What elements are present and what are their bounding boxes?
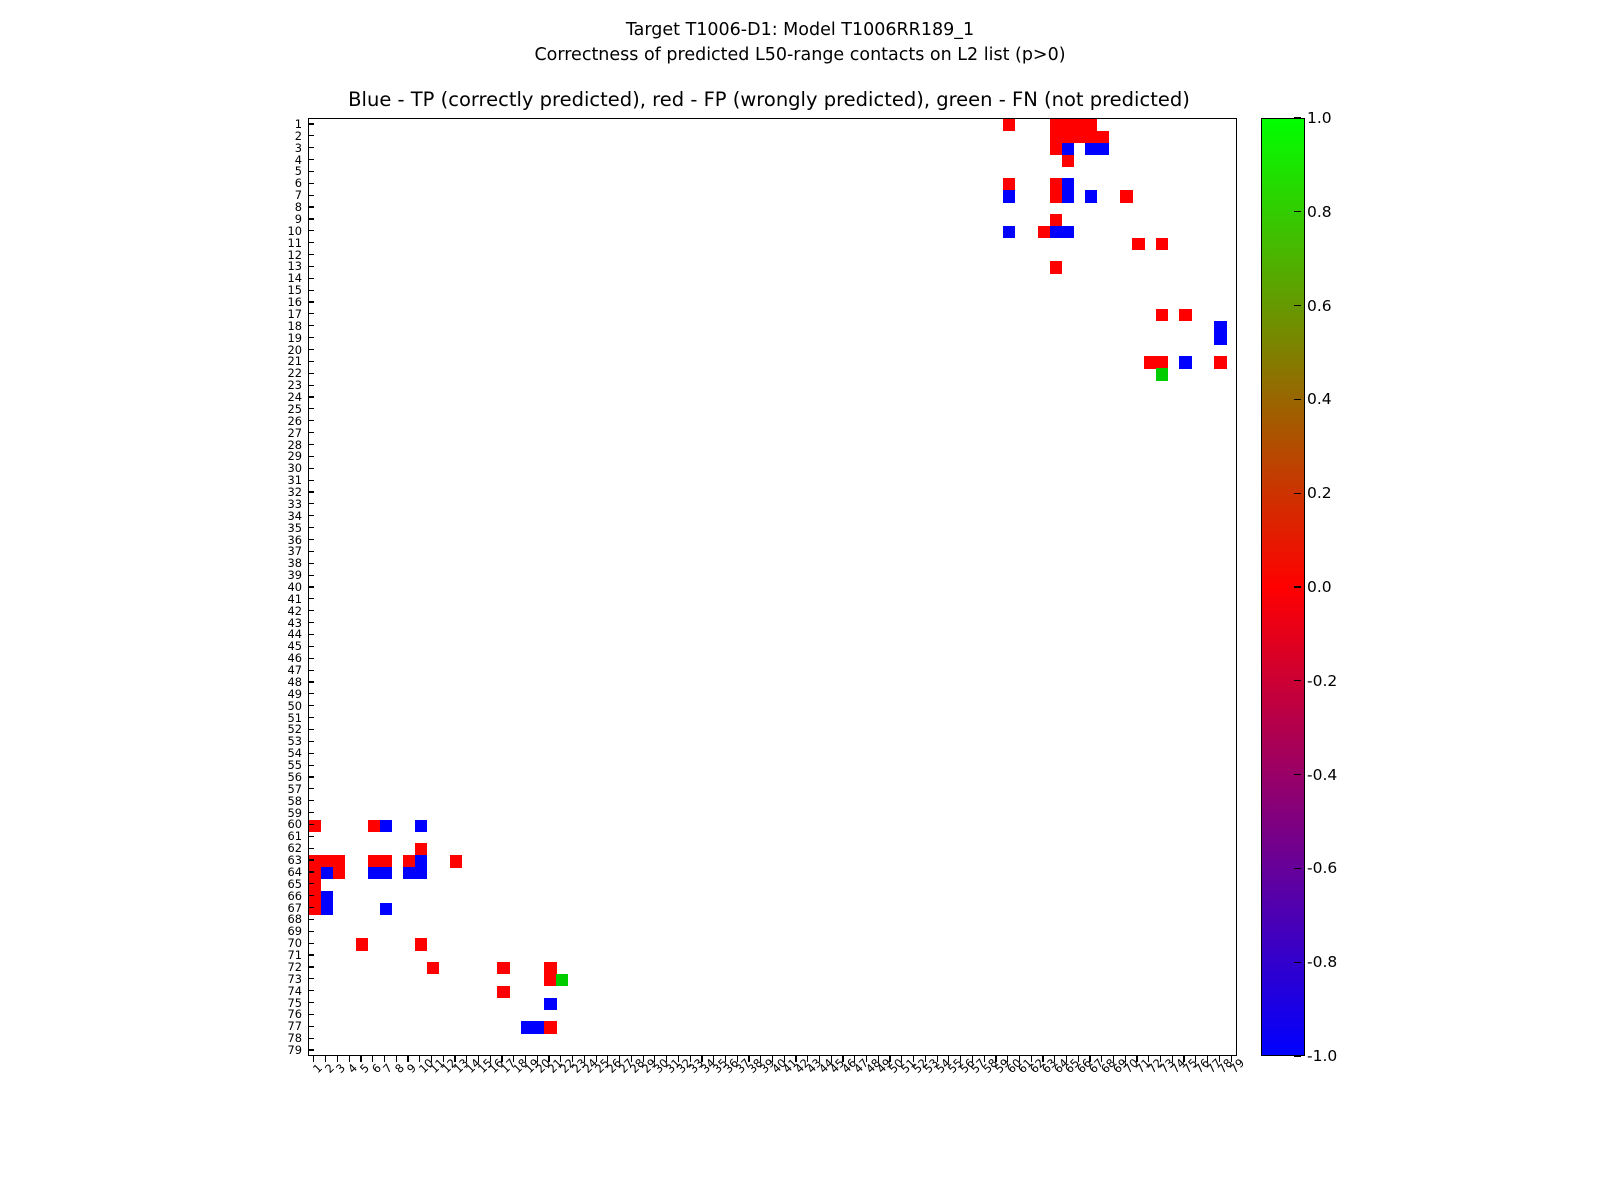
y-tick-mark bbox=[308, 978, 314, 979]
y-tick-mark bbox=[308, 717, 314, 718]
y-tick-mark bbox=[308, 551, 314, 552]
y-tick-mark bbox=[308, 895, 314, 896]
y-tick-mark bbox=[308, 408, 314, 409]
contact-cells-layer bbox=[309, 119, 1236, 1055]
colorbar-tick-mark bbox=[1294, 493, 1301, 494]
heatmap-cell-fp bbox=[1073, 131, 1085, 143]
y-tick-mark bbox=[308, 135, 314, 136]
heatmap-cell-tp bbox=[521, 1021, 533, 1033]
heatmap-cell-fn bbox=[1156, 368, 1168, 380]
heatmap-cell-fp bbox=[1085, 119, 1097, 131]
heatmap-cell-fp bbox=[368, 820, 380, 832]
y-tick-mark bbox=[308, 871, 314, 872]
heatmap-cell-fp bbox=[1050, 143, 1062, 155]
heatmap-cell-fp bbox=[1144, 356, 1156, 368]
heatmap-cell-fp bbox=[309, 855, 321, 867]
heatmap-cell-tp bbox=[380, 903, 392, 915]
y-tick-mark bbox=[308, 349, 314, 350]
y-tick-mark bbox=[308, 1002, 314, 1003]
y-tick-mark bbox=[308, 788, 314, 789]
colorbar-tick-label: 0.8 bbox=[1307, 203, 1332, 221]
y-tick-mark bbox=[308, 159, 314, 160]
heatmap-cell-tp bbox=[403, 867, 415, 879]
y-tick-mark bbox=[308, 859, 314, 860]
y-tick-mark bbox=[308, 266, 314, 267]
y-tick-mark bbox=[308, 385, 314, 386]
y-tick-mark bbox=[308, 1014, 314, 1015]
x-tick-label: 1 bbox=[310, 1061, 325, 1076]
y-tick-mark bbox=[308, 123, 314, 124]
heatmap-cell-tp bbox=[415, 855, 427, 867]
heatmap-cell-fp bbox=[1003, 178, 1015, 190]
x-tick-label: 5 bbox=[357, 1061, 372, 1076]
y-tick-mark bbox=[308, 480, 314, 481]
y-tick-mark bbox=[308, 290, 314, 291]
y-tick-mark bbox=[308, 670, 314, 671]
y-tick-mark bbox=[308, 1026, 314, 1027]
y-tick-mark bbox=[308, 539, 314, 540]
heatmap-cell-tp bbox=[415, 820, 427, 832]
y-tick-mark bbox=[308, 218, 314, 219]
y-tick-mark bbox=[308, 765, 314, 766]
y-tick-mark bbox=[308, 812, 314, 813]
y-tick-mark bbox=[308, 432, 314, 433]
colorbar-tick-label: 0.6 bbox=[1307, 297, 1332, 315]
heatmap-cell-fp bbox=[450, 855, 462, 867]
y-tick-mark bbox=[308, 206, 314, 207]
y-tick-mark bbox=[308, 658, 314, 659]
y-tick-mark bbox=[308, 468, 314, 469]
heatmap-cell-tp bbox=[321, 891, 333, 903]
colorbar-tick-label: -0.4 bbox=[1307, 766, 1337, 784]
heatmap-cell-fp bbox=[415, 938, 427, 950]
heatmap-cell-fp bbox=[403, 855, 415, 867]
heatmap-cell-fp bbox=[1132, 238, 1144, 250]
y-tick-mark bbox=[308, 373, 314, 374]
heatmap-cell-tp bbox=[321, 867, 333, 879]
heatmap-cell-fp bbox=[1062, 119, 1074, 131]
heatmap-cell-tp bbox=[1003, 226, 1015, 238]
heatmap-cell-tp bbox=[380, 820, 392, 832]
y-tick-mark bbox=[308, 337, 314, 338]
y-tick-mark bbox=[308, 515, 314, 516]
y-tick-mark bbox=[308, 824, 314, 825]
axes-subtitle: Blue - TP (correctly predicted), red - F… bbox=[0, 88, 1538, 111]
y-tick-mark bbox=[308, 681, 314, 682]
heatmap-cell-fp bbox=[1050, 178, 1062, 190]
heatmap-cell-fp bbox=[1038, 226, 1050, 238]
colorbar-tick-mark bbox=[1294, 117, 1301, 118]
figure-title: Target T1006-D1: Model T1006RR189_1 Corr… bbox=[0, 18, 1600, 68]
heatmap-cell-tp bbox=[1062, 226, 1074, 238]
y-tick-mark bbox=[308, 966, 314, 967]
heatmap-cell-tp bbox=[1062, 143, 1074, 155]
heatmap-cell-fp bbox=[1050, 261, 1062, 273]
y-tick-mark bbox=[308, 361, 314, 362]
heatmap-cell-fp bbox=[1003, 119, 1015, 131]
colorbar-tick-mark bbox=[1294, 586, 1301, 587]
y-tick-mark bbox=[308, 776, 314, 777]
heatmap-cell-fp bbox=[309, 891, 321, 903]
heatmap-cell-tp bbox=[1214, 321, 1226, 333]
heatmap-cell-fp bbox=[309, 867, 321, 879]
heatmap-cell-tp bbox=[1003, 190, 1015, 202]
colorbar-tick-label: -1.0 bbox=[1307, 1047, 1337, 1065]
y-tick-mark bbox=[308, 919, 314, 920]
colorbar-tick-label: -0.2 bbox=[1307, 672, 1337, 690]
heatmap-cell-tp bbox=[544, 998, 556, 1010]
y-tick-mark bbox=[308, 420, 314, 421]
title-line-1: Target T1006-D1: Model T1006RR189_1 bbox=[0, 18, 1600, 43]
heatmap-cell-tp bbox=[368, 867, 380, 879]
heatmap-cell-fp bbox=[333, 867, 345, 879]
heatmap-cell-fp bbox=[333, 855, 345, 867]
y-tick-mark bbox=[308, 444, 314, 445]
colorbar-tick-mark bbox=[1294, 399, 1301, 400]
y-tick-mark bbox=[308, 254, 314, 255]
y-tick-mark bbox=[308, 147, 314, 148]
y-tick-mark bbox=[308, 622, 314, 623]
heatmap-cell-fn bbox=[556, 974, 568, 986]
y-tick-mark bbox=[308, 741, 314, 742]
heatmap-cell-tp bbox=[1085, 143, 1097, 155]
figure-root: Target T1006-D1: Model T1006RR189_1 Corr… bbox=[0, 0, 1600, 1200]
y-tick-mark bbox=[308, 990, 314, 991]
heatmap-cell-fp bbox=[1156, 238, 1168, 250]
heatmap-cell-tp bbox=[532, 1021, 544, 1033]
heatmap-cell-fp bbox=[415, 843, 427, 855]
heatmap-cell-fp bbox=[544, 974, 556, 986]
y-tick-mark bbox=[308, 325, 314, 326]
heatmap-cell-tp bbox=[1062, 190, 1074, 202]
heatmap-cell-tp bbox=[1179, 356, 1191, 368]
heatmap-cell-fp bbox=[356, 938, 368, 950]
y-tick-mark bbox=[308, 1038, 314, 1039]
heatmap-cell-fp bbox=[1156, 356, 1168, 368]
heatmap-cell-tp bbox=[321, 903, 333, 915]
y-tick-mark bbox=[308, 503, 314, 504]
y-tick-mark bbox=[308, 693, 314, 694]
y-tick-mark bbox=[308, 646, 314, 647]
heatmap-cell-tp bbox=[1050, 226, 1062, 238]
y-tick-mark bbox=[308, 230, 314, 231]
y-tick-mark bbox=[308, 848, 314, 849]
y-tick-label: 79 bbox=[270, 1043, 302, 1057]
colorbar-tick-label: 0.4 bbox=[1307, 390, 1332, 408]
y-tick-mark bbox=[308, 610, 314, 611]
y-tick-mark bbox=[308, 907, 314, 908]
y-tick-mark bbox=[308, 575, 314, 576]
colorbar-tick-label: 0.0 bbox=[1307, 578, 1332, 596]
y-tick-mark bbox=[308, 931, 314, 932]
y-tick-mark bbox=[308, 943, 314, 944]
colorbar-tick-label: 0.2 bbox=[1307, 484, 1332, 502]
heatmap-cell-fp bbox=[427, 962, 439, 974]
colorbar-tick-mark bbox=[1294, 211, 1301, 212]
heatmap-cell-fp bbox=[1050, 119, 1062, 131]
y-tick-mark bbox=[308, 729, 314, 730]
y-tick-mark bbox=[308, 800, 314, 801]
y-tick-mark bbox=[308, 278, 314, 279]
heatmap-cell-fp bbox=[309, 820, 321, 832]
heatmap-cell-fp bbox=[1085, 131, 1097, 143]
x-tick-label: 9 bbox=[404, 1061, 419, 1076]
y-tick-mark bbox=[308, 195, 314, 196]
heatmap-cell-fp bbox=[1156, 309, 1168, 321]
title-line-2: Correctness of predicted L50-range conta… bbox=[0, 43, 1600, 68]
colorbar-tick-mark bbox=[1294, 1055, 1301, 1056]
heatmap-cell-fp bbox=[1050, 214, 1062, 226]
y-tick-mark bbox=[308, 456, 314, 457]
heatmap-cell-fp bbox=[1062, 155, 1074, 167]
colorbar-tick-label: -0.8 bbox=[1307, 953, 1337, 971]
heatmap-cell-fp bbox=[321, 855, 333, 867]
heatmap-cell-fp bbox=[497, 962, 509, 974]
heatmap-cell-tp bbox=[380, 867, 392, 879]
heatmap-cell-fp bbox=[544, 1021, 556, 1033]
y-tick-mark bbox=[308, 396, 314, 397]
y-tick-mark bbox=[308, 883, 314, 884]
heatmap-cell-fp bbox=[368, 855, 380, 867]
heatmap-cell-fp bbox=[1050, 131, 1062, 143]
y-tick-mark bbox=[308, 313, 314, 314]
heatmap-cell-fp bbox=[497, 986, 509, 998]
heatmap-cell-tp bbox=[415, 867, 427, 879]
y-tick-mark bbox=[308, 753, 314, 754]
y-tick-mark bbox=[308, 563, 314, 564]
colorbar-tick-mark bbox=[1294, 680, 1301, 681]
heatmap-cell-fp bbox=[1073, 119, 1085, 131]
y-tick-mark bbox=[308, 1049, 314, 1050]
y-tick-mark bbox=[308, 598, 314, 599]
colorbar-tick-mark bbox=[1294, 305, 1301, 306]
heatmap-cell-fp bbox=[544, 962, 556, 974]
heatmap-cell-tp bbox=[1214, 333, 1226, 345]
y-tick-mark bbox=[308, 527, 314, 528]
heatmap-cell-fp bbox=[1097, 131, 1109, 143]
heatmap-cell-fp bbox=[380, 855, 392, 867]
y-tick-mark bbox=[308, 836, 314, 837]
heatmap-cell-tp bbox=[1097, 143, 1109, 155]
y-tick-mark bbox=[308, 171, 314, 172]
colorbar-tick-label: -0.6 bbox=[1307, 859, 1337, 877]
heatmap-cell-fp bbox=[1050, 190, 1062, 202]
heatmap-cell-tp bbox=[1062, 178, 1074, 190]
heatmap-cell-fp bbox=[1214, 356, 1226, 368]
colorbar-tick-mark bbox=[1294, 962, 1301, 963]
y-tick-mark bbox=[308, 954, 314, 955]
colorbar-tick-mark bbox=[1294, 774, 1301, 775]
heatmap-cell-fp bbox=[309, 879, 321, 891]
heatmap-cell-fp bbox=[309, 903, 321, 915]
heatmap-cell-tp bbox=[1085, 190, 1097, 202]
y-tick-mark bbox=[308, 242, 314, 243]
y-tick-mark bbox=[308, 586, 314, 587]
heatmap-cell-fp bbox=[1179, 309, 1191, 321]
y-tick-mark bbox=[308, 634, 314, 635]
y-tick-mark bbox=[308, 301, 314, 302]
colorbar-tick-mark bbox=[1294, 868, 1301, 869]
heatmap-cell-fp bbox=[1062, 131, 1074, 143]
y-tick-mark bbox=[308, 705, 314, 706]
contact-map-plot bbox=[308, 118, 1237, 1056]
colorbar-tick-label: 1.0 bbox=[1307, 109, 1332, 127]
y-tick-mark bbox=[308, 183, 314, 184]
y-tick-mark bbox=[308, 491, 314, 492]
heatmap-cell-fp bbox=[1120, 190, 1132, 202]
